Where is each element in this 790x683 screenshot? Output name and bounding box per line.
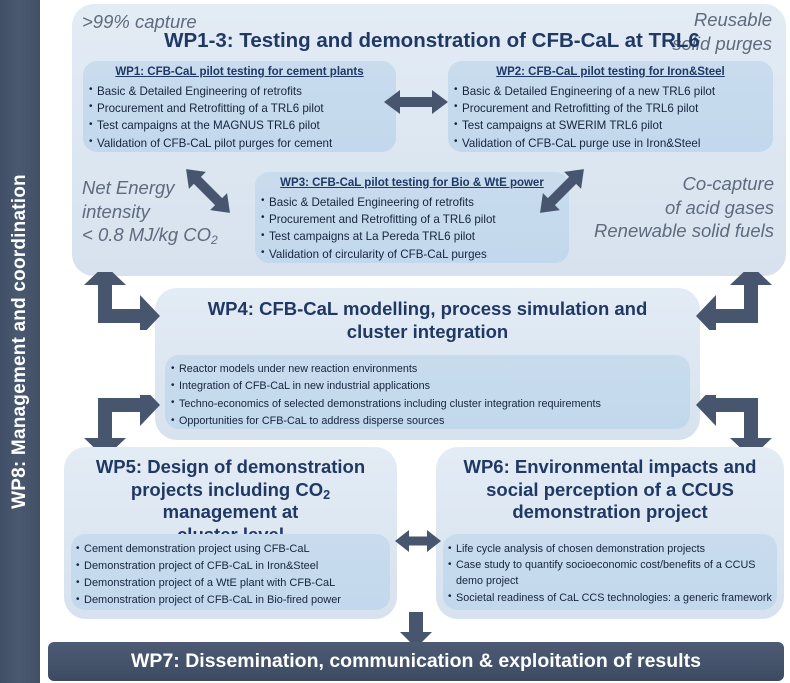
wp1-bullet-list: Basic & Detailed Engineering of retrofit… — [83, 81, 396, 153]
list-item: Life cycle analysis of chosen demonstrat… — [448, 541, 777, 557]
note-net-energy-value: < 0.8 MJ/kg CO — [82, 224, 211, 245]
wp4-title: WP4: CFB-CaL modelling, process simulati… — [185, 298, 670, 343]
wp2-box: WP2: CFB-CaL pilot testing for Iron&Stee… — [448, 61, 773, 152]
arrow-wp1-wp2-icon — [384, 86, 448, 118]
list-item: Test campaigns at the MAGNUS TRL6 pilot — [89, 117, 396, 134]
arrow-wp4-to-wp6-icon — [696, 395, 778, 453]
wp3-box: WP3: CFB-CaL pilot testing for Bio & WtE… — [255, 172, 569, 263]
wp2-title: WP2: CFB-CaL pilot testing for Iron&Stee… — [448, 61, 773, 81]
list-item: Test campaigns at La Pereda TRL6 pilot — [261, 228, 569, 245]
list-item: Demonstration project of CFB-CaL in Bio-… — [76, 592, 390, 609]
list-item: Demonstration project of CFB-CaL in Iron… — [76, 558, 390, 575]
list-item: Case study to quantify socioeconomic cos… — [448, 557, 777, 589]
list-item: Societal readiness of CaL CCS technologi… — [448, 590, 777, 606]
list-item: Procurement and Retrofitting of the TRL6… — [454, 100, 773, 117]
wp1-3-title: WP1-3: Testing and demonstration of CFB-… — [152, 28, 712, 53]
wp4-bullet-list: Reactor models under new reaction enviro… — [165, 355, 690, 431]
wp1-3-panel: >99% capture Reusable solid purges WP1-3… — [72, 4, 786, 276]
wp5-title-line2-post: management at — [163, 501, 299, 522]
wp6-title: WP6: Environmental impacts and social pe… — [450, 456, 770, 524]
wp5-title: WP5: Design of demonstration projects in… — [78, 456, 383, 546]
wp7-label: WP7: Dissemination, communication & expl… — [131, 650, 701, 673]
list-item: Procurement and Retrofitting of a TRL6 p… — [89, 100, 396, 117]
note-net-energy-line3: < 0.8 MJ/kg CO2 — [82, 223, 218, 247]
list-item: Opportunities for CFB-CaL to address dis… — [171, 413, 690, 430]
list-item: Reactor models under new reaction enviro… — [171, 361, 690, 378]
arrow-wp4-to-wp5-icon — [78, 395, 160, 453]
wp3-title: WP3: CFB-CaL pilot testing for Bio & WtE… — [255, 172, 569, 192]
wp5-title-line1: WP5: Design of demonstration — [78, 456, 383, 479]
wp8-management-bar: WP8: Management and coordination — [0, 0, 40, 683]
wp5-inner-box: Cement demonstration project using CFB-C… — [71, 534, 390, 610]
list-item: Procurement and Retrofitting of a TRL6 p… — [261, 211, 569, 228]
arrow-wp1-wp3-icon — [177, 160, 239, 222]
arrow-wp13-to-wp4-left-icon — [78, 272, 160, 330]
arrow-wp13-to-wp4-right-icon — [696, 272, 778, 330]
wp6-panel: WP6: Environmental impacts and social pe… — [436, 447, 784, 619]
arrow-wp5-wp6-icon — [395, 527, 441, 555]
list-item: Integration of CFB-CaL in new industrial… — [171, 378, 690, 395]
wp3-bullet-list: Basic & Detailed Engineering of retrofit… — [255, 192, 569, 264]
wp5-bullet-list: Cement demonstration project using CFB-C… — [71, 534, 390, 609]
list-item: Test campaigns at SWERIM TRL6 pilot — [454, 117, 773, 134]
note-co-capture-line3: Renewable solid fuels — [594, 219, 774, 243]
wp5-title-line2-sub: 2 — [323, 488, 330, 502]
wp4-panel: WP4: CFB-CaL modelling, process simulati… — [155, 288, 700, 440]
wp7-bar: WP7: Dissemination, communication & expl… — [48, 642, 784, 681]
list-item: Basic & Detailed Engineering of retrofit… — [89, 83, 396, 100]
list-item: Basic & Detailed Engineering of a new TR… — [454, 83, 773, 100]
wp1-box: WP1: CFB-CaL pilot testing for cement pl… — [83, 61, 396, 152]
wp5-panel: WP5: Design of demonstration projects in… — [64, 447, 397, 619]
note-net-energy-sub: 2 — [211, 233, 218, 247]
arrow-wp3-wp2-icon — [531, 160, 593, 222]
wp8-label: WP8: Management and coordination — [0, 0, 40, 683]
list-item: Validation of CFB-CaL pilot purges for c… — [89, 135, 396, 152]
list-item: Demonstration project of a WtE plant wit… — [76, 575, 390, 592]
wp6-bullet-list: Life cycle analysis of chosen demonstrat… — [443, 534, 777, 606]
wp4-inner-box: Reactor models under new reaction enviro… — [165, 355, 690, 429]
list-item: Validation of circularity of CFB-CaL pur… — [261, 246, 569, 263]
wp5-title-line2: projects including CO2 management at — [78, 479, 383, 524]
wp2-bullet-list: Basic & Detailed Engineering of a new TR… — [448, 81, 773, 153]
note-co-capture-line1: Co-capture — [594, 172, 774, 196]
note-co-capture-line2: of acid gases — [594, 196, 774, 220]
list-item: Validation of CFB-CaL purge use in Iron&… — [454, 135, 773, 152]
wp5-title-line2-pre: projects including CO — [131, 479, 323, 500]
list-item: Techno-economics of selected demonstrati… — [171, 396, 690, 413]
note-co-capture: Co-capture of acid gases Renewable solid… — [594, 172, 774, 243]
diagram-canvas: WP8: Management and coordination >99% ca… — [0, 0, 790, 683]
list-item: Cement demonstration project using CFB-C… — [76, 541, 390, 558]
wp1-title: WP1: CFB-CaL pilot testing for cement pl… — [83, 61, 396, 81]
wp6-inner-box: Life cycle analysis of chosen demonstrat… — [443, 534, 777, 610]
list-item: Basic & Detailed Engineering of retrofit… — [261, 194, 569, 211]
